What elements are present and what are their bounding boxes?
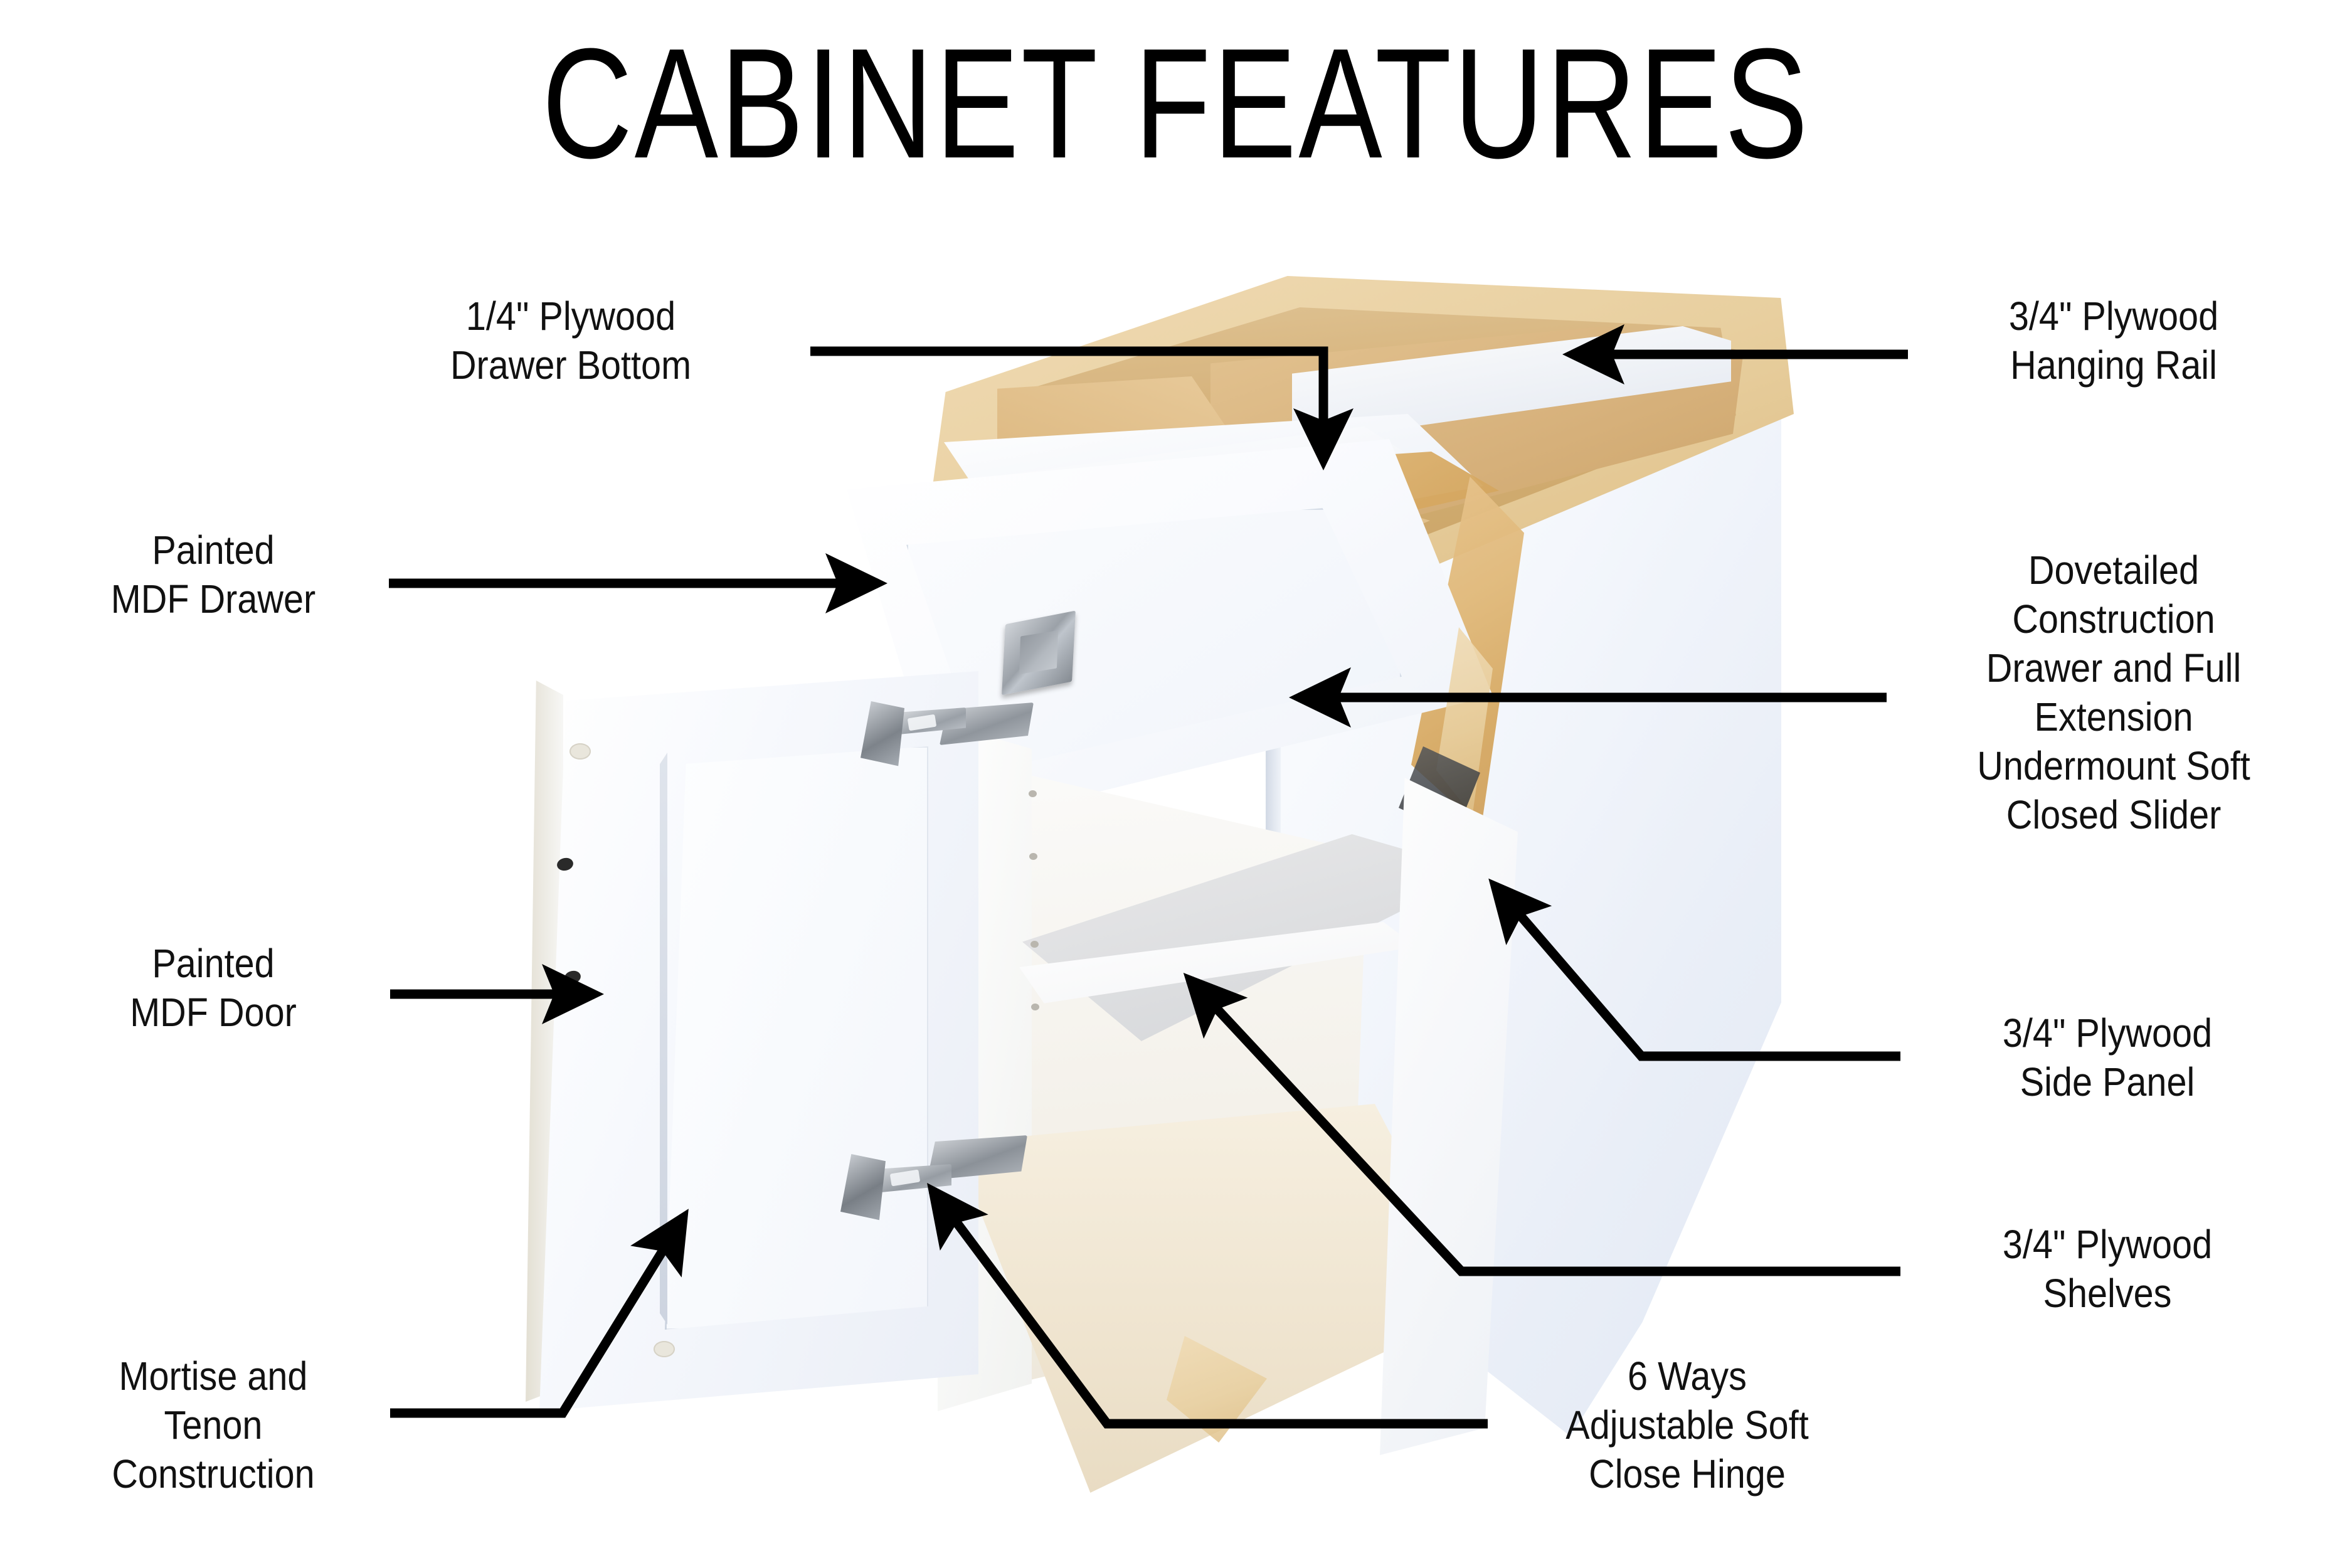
callout-label-side-panel: 3/4" Plywood Side Panel	[1927, 1009, 2288, 1106]
callout-label-painted-drawer: Painted MDF Drawer	[61, 526, 366, 623]
leader-side-panel	[1495, 886, 1900, 1056]
callout-label-mortise-tenon: Mortise and Tenon Construction	[55, 1352, 371, 1498]
callout-label-hinge: 6 Ways Adjustable Soft Close Hinge	[1507, 1352, 1868, 1498]
leader-shelves	[1190, 980, 1900, 1271]
callout-label-painted-door: Painted MDF Door	[61, 939, 366, 1037]
page-title: CABINET FEATURES	[235, 25, 2117, 182]
callout-label-dovetail: Dovetailed Construction Drawer and Full …	[1916, 546, 2311, 839]
leader-hinge	[933, 1190, 1488, 1424]
callout-label-hanging-rail: 3/4" Plywood Hanging Rail	[1939, 292, 2289, 389]
callout-label-shelves: 3/4" Plywood Shelves	[1927, 1220, 2288, 1318]
callout-label-drawer-bottom: 1/4" Plywood Drawer Bottom	[384, 292, 757, 389]
leader-mortise-tenon	[390, 1217, 684, 1413]
leader-drawer-bottom	[810, 351, 1323, 461]
